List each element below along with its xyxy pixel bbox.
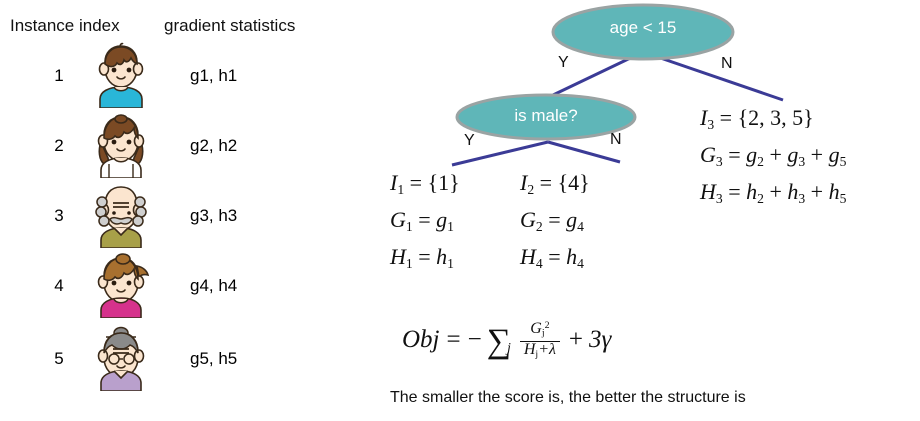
edge-label-root-no: N bbox=[721, 55, 733, 73]
tree-node-root-label: age < 15 bbox=[553, 18, 733, 38]
leaf-3-hessian-sum: H3 = h2 + h3 + h5 bbox=[700, 177, 846, 214]
leaf-1-statistics: I1 = {1} G1 = g1 H1 = h1 bbox=[390, 168, 460, 278]
objective-lhs: Obj bbox=[402, 326, 440, 354]
objective-equals: = bbox=[447, 326, 461, 354]
leaf-3-instance-set: I3 = {2, 3, 5} bbox=[700, 103, 846, 140]
row-gradient-stats: g4, h4 bbox=[190, 276, 237, 296]
leaf-1-gradient-sum: G1 = g1 bbox=[390, 205, 460, 242]
column-header-instance-index: Instance index bbox=[10, 16, 120, 36]
objective-fraction: Gj2 Hj+λ bbox=[520, 318, 560, 362]
row-gradient-stats: g2, h2 bbox=[190, 136, 237, 156]
table-row: 3 g3, h3 bbox=[0, 182, 340, 252]
edge-label-root-yes: Y bbox=[558, 54, 569, 72]
instance-table: Instance index gradient statistics 1 g1,… bbox=[0, 0, 340, 421]
column-header-gradient-statistics: gradient statistics bbox=[164, 16, 295, 36]
girl-ponytail-avatar bbox=[90, 252, 152, 318]
old-man-avatar bbox=[90, 182, 152, 248]
row-index-label: 2 bbox=[46, 136, 72, 156]
leaf-2-hessian-sum: H4 = h4 bbox=[520, 242, 590, 279]
table-row: 5 g5, h5 bbox=[0, 325, 340, 395]
table-row: 4 g4, h4 bbox=[0, 252, 340, 322]
decision-tree-diagram: age < 15 is male? Y N Y N I1 = {1} G1 = … bbox=[340, 0, 920, 421]
leaf-1-hessian-sum: H1 = h1 bbox=[390, 242, 460, 279]
diagram-caption: The smaller the score is, the better the… bbox=[390, 389, 746, 407]
leaf-3-statistics: I3 = {2, 3, 5} G3 = g2 + g3 + g5 H3 = h2… bbox=[700, 103, 846, 213]
edge-label-male-yes: Y bbox=[464, 132, 475, 150]
summation-index: j bbox=[507, 341, 511, 357]
fraction-numerator: Gj2 bbox=[526, 318, 553, 341]
fraction-denominator: Hj+λ bbox=[520, 341, 560, 363]
old-woman-avatar bbox=[90, 325, 152, 391]
leaf-1-instance-set: I1 = {1} bbox=[390, 168, 460, 205]
leaf-2-statistics: I2 = {4} G2 = g4 H4 = h4 bbox=[520, 168, 590, 278]
girl-braids-avatar bbox=[90, 112, 152, 178]
tree-node-is-male-label: is male? bbox=[457, 106, 635, 126]
boy-avatar bbox=[90, 42, 152, 108]
table-row: 2 g2, h2 bbox=[0, 112, 340, 182]
edge-label-male-no: N bbox=[610, 131, 622, 149]
row-index-label: 1 bbox=[46, 66, 72, 86]
objective-plus: + bbox=[569, 326, 583, 354]
table-row: 1 g1, h1 bbox=[0, 42, 340, 112]
row-index-label: 4 bbox=[46, 276, 72, 296]
leaf-3-gradient-sum: G3 = g2 + g3 + g5 bbox=[700, 140, 846, 177]
objective-minus: − bbox=[468, 326, 482, 354]
row-gradient-stats: g5, h5 bbox=[190, 349, 237, 369]
row-index-label: 5 bbox=[46, 349, 72, 369]
row-gradient-stats: g1, h1 bbox=[190, 66, 237, 86]
leaf-2-gradient-sum: G2 = g4 bbox=[520, 205, 590, 242]
leaf-2-instance-set: I2 = {4} bbox=[520, 168, 590, 205]
objective-regularization: 3γ bbox=[589, 326, 611, 354]
row-index-label: 3 bbox=[46, 206, 72, 226]
objective-equation: Obj = − ∑ j Gj2 Hj+λ + 3γ bbox=[402, 318, 611, 362]
row-gradient-stats: g3, h3 bbox=[190, 206, 237, 226]
